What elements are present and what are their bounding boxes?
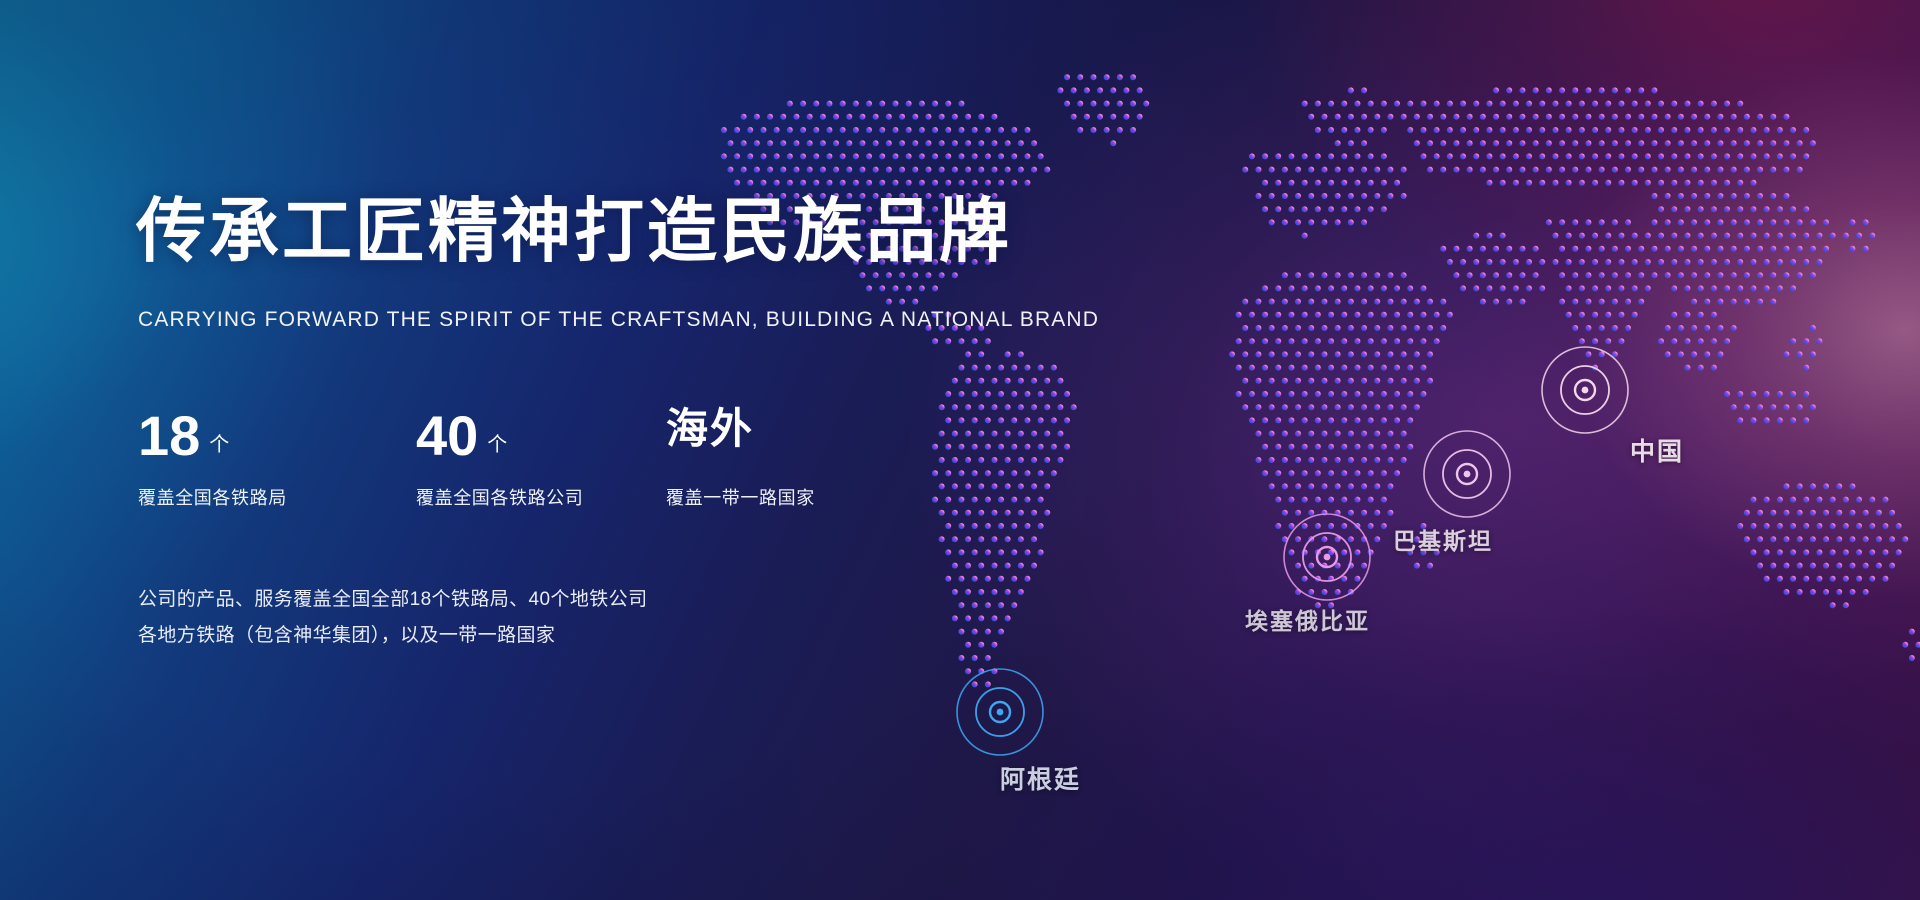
stat-value: 海外 — [666, 408, 754, 450]
stats-row: 18个覆盖全国各铁路局40个覆盖全国各铁路公司海外覆盖一带一路国家 — [138, 408, 916, 510]
stat-value-row: 40个 — [416, 408, 666, 470]
stat-description: 覆盖全国各铁路公司 — [416, 484, 666, 510]
stat-unit: 个 — [209, 428, 229, 457]
stat-unit: 个 — [487, 428, 507, 457]
map-marker[interactable] — [1267, 497, 1387, 617]
map-marker[interactable] — [1525, 330, 1645, 450]
stat-value-row: 18个 — [138, 408, 416, 470]
description-line-1: 公司的产品、服务覆盖全国全部18个铁路局、40个地铁公司 — [138, 582, 647, 618]
stat-description: 覆盖一带一路国家 — [666, 484, 916, 510]
hero-banner: 中国巴基斯坦埃塞俄比亚阿根廷 传承工匠精神打造民族品牌 CARRYING FOR… — [0, 0, 1920, 900]
stat-item: 40个覆盖全国各铁路公司 — [416, 408, 666, 510]
map-marker-label: 巴基斯坦 — [1393, 522, 1493, 556]
page-subtitle: CARRYING FORWARD THE SPIRIT OF THE CRAFT… — [138, 308, 1099, 332]
hero-content: 传承工匠精神打造民族品牌 CARRYING FORWARD THE SPIRIT… — [136, 0, 1136, 900]
stat-item: 海外覆盖一带一路国家 — [666, 408, 916, 510]
page-title: 传承工匠精神打造民族品牌 — [136, 196, 1012, 266]
map-marker-label: 埃塞俄比亚 — [1245, 602, 1370, 636]
map-marker[interactable] — [1407, 414, 1527, 534]
map-marker-label: 中国 — [1630, 432, 1684, 468]
stat-value-row: 海外 — [666, 408, 916, 470]
stat-value: 18 — [138, 408, 200, 464]
stat-value: 40 — [416, 408, 478, 464]
description-paragraph: 公司的产品、服务覆盖全国全部18个铁路局、40个地铁公司 各地方铁路（包含神华集… — [138, 582, 647, 654]
stat-description: 覆盖全国各铁路局 — [138, 484, 416, 510]
description-line-2: 各地方铁路（包含神华集团），以及一带一路国家 — [138, 618, 647, 654]
stat-item: 18个覆盖全国各铁路局 — [138, 408, 416, 510]
